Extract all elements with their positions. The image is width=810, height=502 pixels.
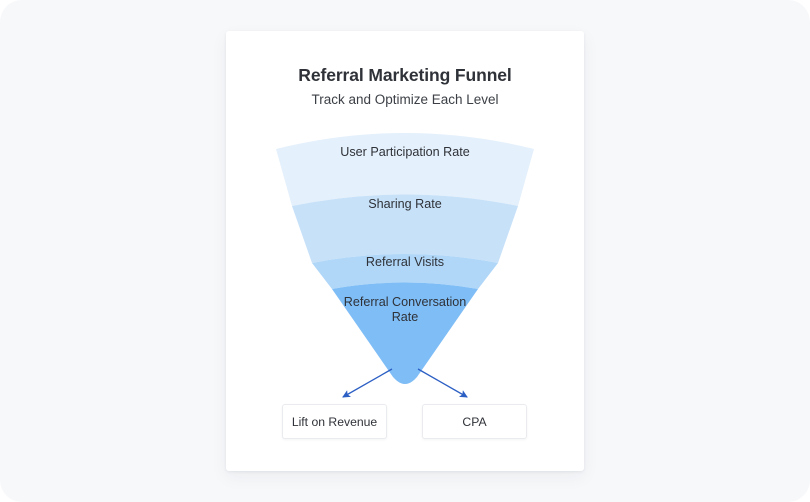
funnel-segment-2[interactable]	[292, 195, 518, 264]
funnel-chart-card: Referral Marketing Funnel Track and Opti…	[226, 31, 584, 471]
outcome-label-lift-on-revenue: Lift on Revenue	[292, 415, 377, 429]
funnel-svg	[226, 31, 584, 471]
arrow-to-lift-on-revenue	[343, 369, 392, 397]
outcome-box-cpa[interactable]: CPA	[422, 404, 527, 439]
outcome-label-cpa: CPA	[462, 415, 486, 429]
funnel-diagram: User Participation Rate Sharing Rate Ref…	[226, 31, 584, 471]
screenshot-page: Referral Marketing Funnel Track and Opti…	[0, 0, 810, 502]
funnel-segment-4[interactable]	[332, 283, 478, 385]
outcome-box-lift-on-revenue[interactable]: Lift on Revenue	[282, 404, 387, 439]
arrow-to-cpa	[418, 369, 467, 397]
